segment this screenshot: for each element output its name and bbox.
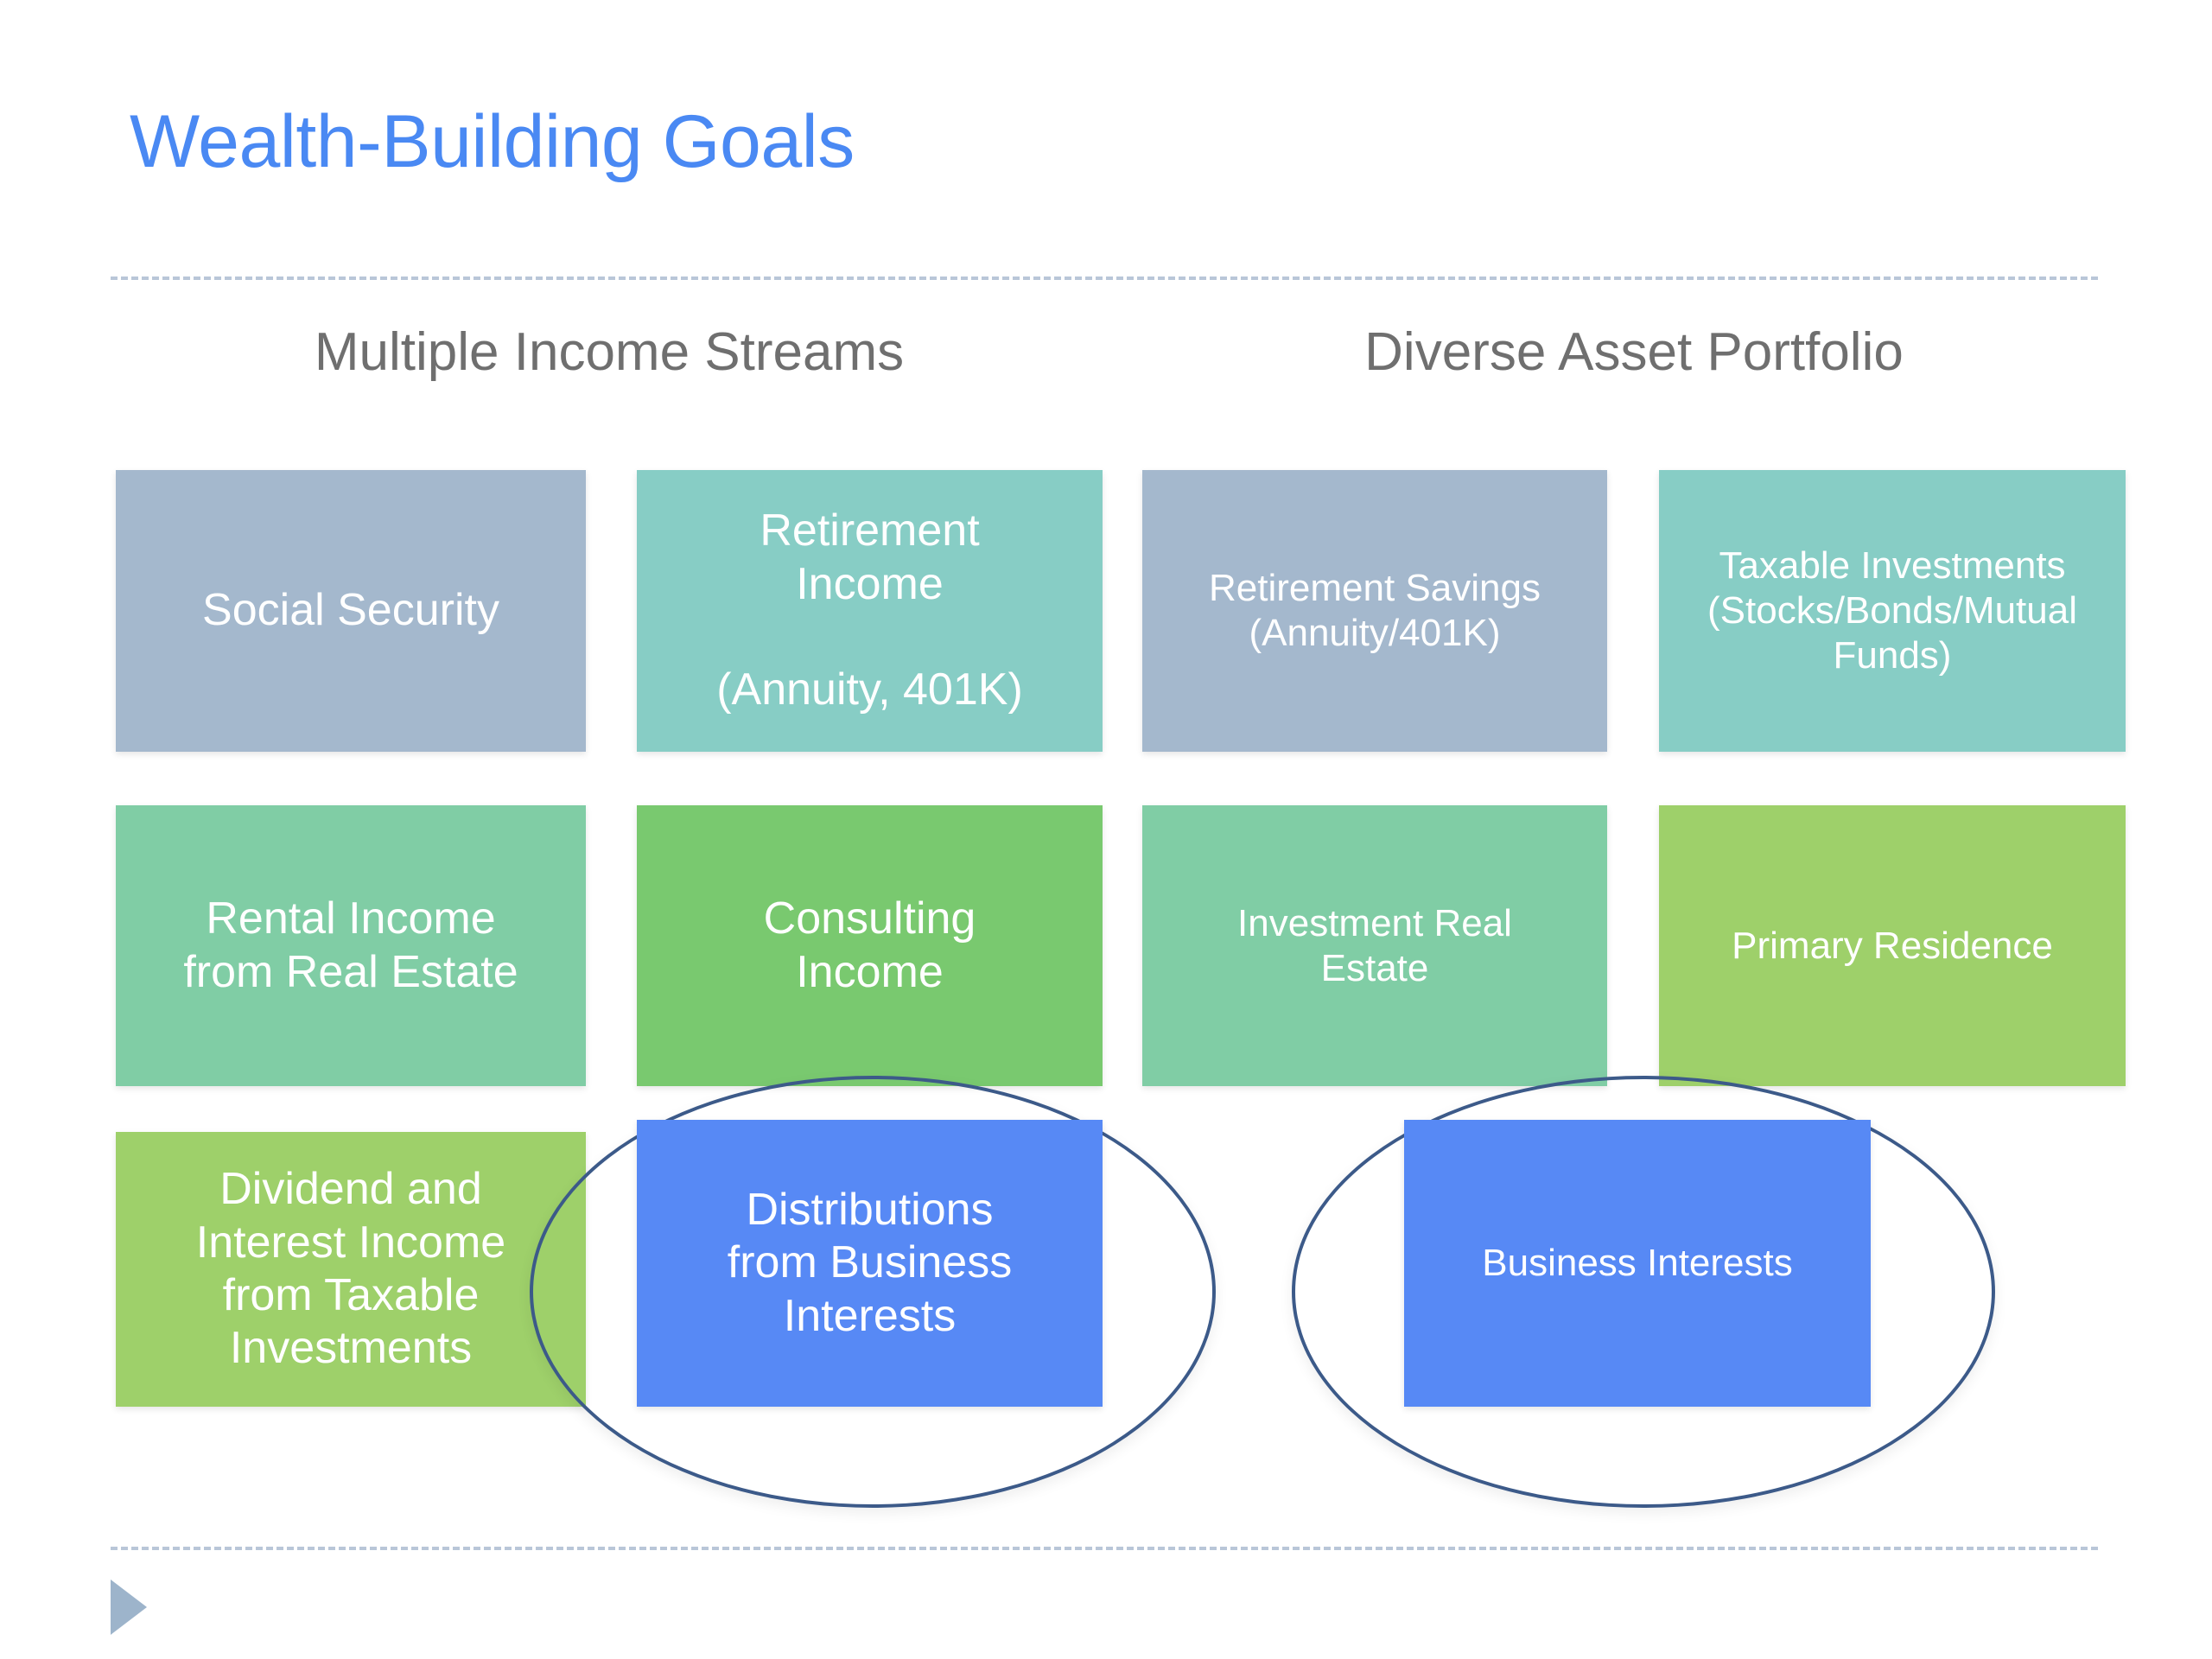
slide-canvas: Wealth-Building Goals Multiple Income St…	[0, 0, 2212, 1659]
box-line: Consulting	[651, 893, 1089, 945]
box-taxable-investments[interactable]: Taxable Investments (Stocks/Bonds/Mutual…	[1659, 470, 2126, 752]
box-line: Primary Residence	[1673, 924, 2112, 969]
page-title: Wealth-Building Goals	[130, 99, 855, 185]
box-line: Interest Income	[130, 1217, 572, 1269]
box-line: (Stocks/Bonds/Mutual	[1673, 588, 2112, 633]
divider-top	[111, 276, 2098, 280]
box-line: Social Security	[130, 584, 572, 637]
box-line: Investment Real	[1156, 901, 1593, 946]
box-line: Investments	[130, 1322, 572, 1375]
box-line: Funds)	[1673, 633, 2112, 678]
box-investment-real-estate[interactable]: Investment Real Estate	[1142, 805, 1607, 1086]
box-rental-income[interactable]: Rental Income from Real Estate	[116, 805, 586, 1086]
box-line: from Business	[651, 1236, 1089, 1289]
box-distributions-from-business-interests[interactable]: Distributions from Business Interests	[637, 1120, 1103, 1407]
box-retirement-income[interactable]: Retirement Income (Annuity, 401K)	[637, 470, 1103, 752]
box-social-security[interactable]: Social Security	[116, 470, 586, 752]
box-dividend-interest-income[interactable]: Dividend and Interest Income from Taxabl…	[116, 1132, 586, 1407]
column-heading-income-streams: Multiple Income Streams	[116, 321, 1103, 383]
box-retirement-savings[interactable]: Retirement Savings (Annuity/401K)	[1142, 470, 1607, 752]
box-line: Business Interests	[1418, 1241, 1857, 1286]
box-line-spacer	[651, 611, 1089, 664]
play-triangle-icon[interactable]	[111, 1580, 147, 1635]
box-business-interests[interactable]: Business Interests	[1404, 1120, 1871, 1407]
box-line: Estate	[1156, 946, 1593, 991]
box-line: Income	[651, 558, 1089, 611]
box-line: (Annuity, 401K)	[651, 664, 1089, 716]
box-line: Rental Income	[130, 893, 572, 945]
box-line: Income	[651, 946, 1089, 999]
divider-bottom	[111, 1547, 2098, 1550]
box-line: (Annuity/401K)	[1156, 611, 1593, 656]
box-line: from Real Estate	[130, 946, 572, 999]
box-consulting-income[interactable]: Consulting Income	[637, 805, 1103, 1086]
box-line: Taxable Investments	[1673, 543, 2112, 588]
box-line: Retirement Savings	[1156, 566, 1593, 611]
box-line: Dividend and	[130, 1163, 572, 1216]
box-line: from Taxable	[130, 1269, 572, 1322]
box-primary-residence[interactable]: Primary Residence	[1659, 805, 2126, 1086]
box-line: Retirement	[651, 505, 1089, 557]
box-line: Interests	[651, 1290, 1089, 1343]
column-heading-asset-portfolio: Diverse Asset Portfolio	[1142, 321, 2126, 383]
box-line: Distributions	[651, 1184, 1089, 1236]
